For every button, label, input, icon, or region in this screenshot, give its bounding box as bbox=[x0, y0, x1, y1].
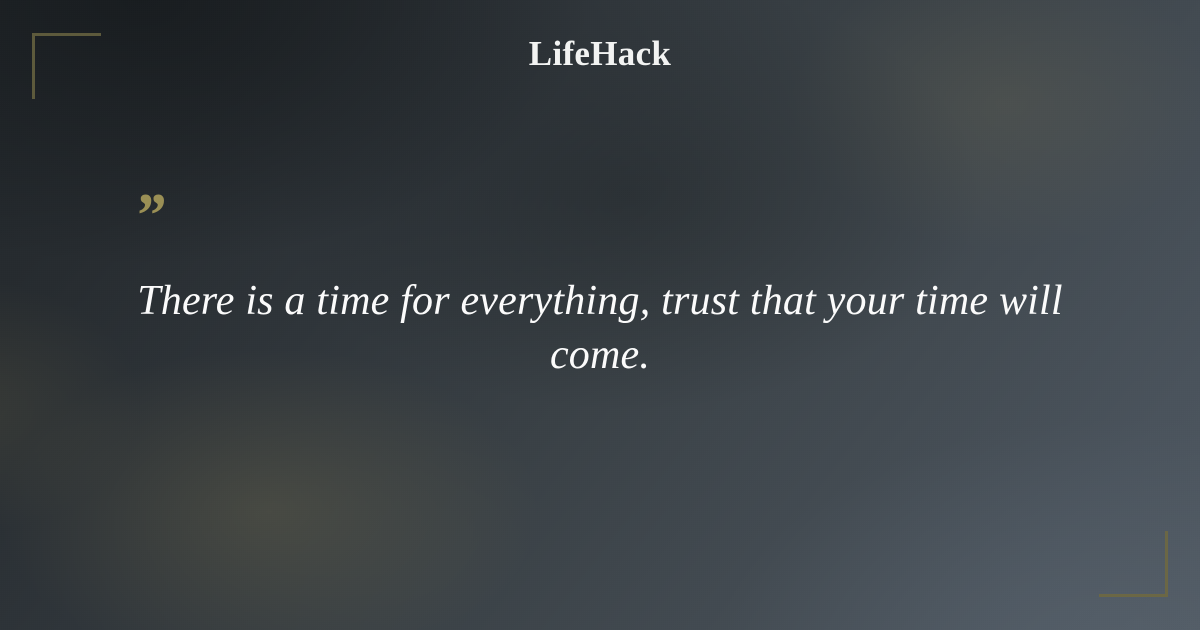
quote-text: There is a time for everything, trust th… bbox=[100, 275, 1100, 383]
corner-bracket-bottom-right-icon bbox=[1099, 531, 1168, 597]
quote-card: LifeHack ” There is a time for everythin… bbox=[0, 0, 1200, 630]
quote-block: ” There is a time for everything, trust … bbox=[100, 185, 1100, 383]
quotation-mark-icon: ” bbox=[134, 185, 1100, 231]
brand-logo: LifeHack bbox=[0, 36, 1200, 71]
